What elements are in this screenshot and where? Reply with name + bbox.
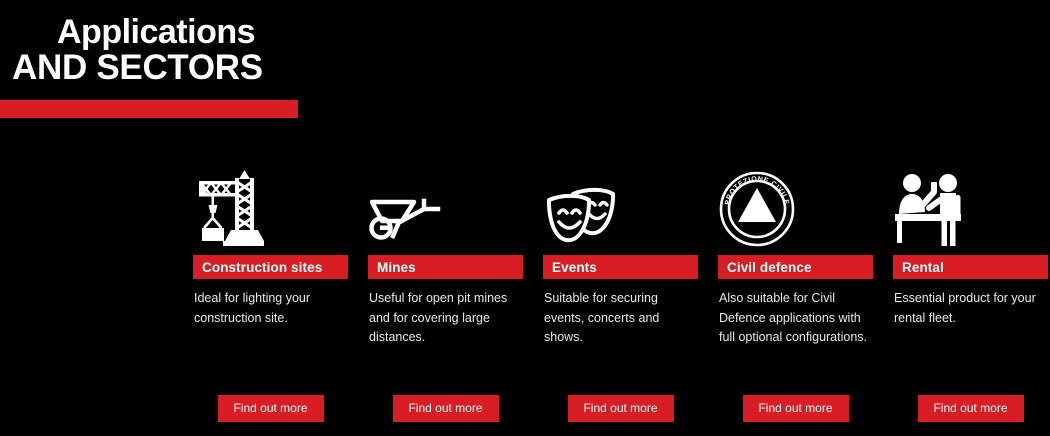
card-label-civil-defence: Civil defence	[718, 255, 873, 279]
page-title-line-2: AND SECTORS	[12, 47, 263, 89]
card-description: Also suitable for Civil Defence applicat…	[719, 289, 871, 348]
page-header: Applications AND SECTORS	[0, 0, 1050, 130]
card-label-text: Civil defence	[718, 260, 812, 275]
card-description: Useful for open pit mines and for coveri…	[369, 289, 521, 348]
card-construction-sites[interactable]: Construction sites Ideal for lighting yo…	[193, 168, 348, 436]
theater-masks-icon	[543, 168, 628, 248]
card-label-text: Events	[543, 260, 597, 275]
card-rental[interactable]: Rental Essential product for your rental…	[893, 168, 1048, 436]
card-label-text: Rental	[893, 260, 944, 275]
find-out-more-button-mines[interactable]: Find out more	[393, 395, 499, 422]
card-label-text: Mines	[368, 260, 416, 275]
card-label-text: Construction sites	[193, 260, 322, 275]
card-label-mines: Mines	[368, 255, 523, 279]
applications-card-row: Construction sites Ideal for lighting yo…	[193, 168, 1050, 436]
card-label-rental: Rental	[893, 255, 1048, 279]
card-description: Essential product for your rental fleet.	[894, 289, 1046, 328]
card-label-construction-sites: Construction sites	[193, 255, 348, 279]
wheelbarrow-icon	[368, 168, 453, 248]
card-civil-defence[interactable]: PROTEZIONE CIVILE Civil defence Also sui…	[718, 168, 873, 436]
find-out-more-button-events[interactable]: Find out more	[568, 395, 674, 422]
card-mines[interactable]: Mines Useful for open pit mines and for …	[368, 168, 523, 436]
find-out-more-button-construction-sites[interactable]: Find out more	[218, 395, 324, 422]
page-title-line-1: Applications	[57, 12, 255, 52]
card-description: Ideal for lighting your construction sit…	[194, 289, 346, 328]
tower-crane-icon	[193, 168, 278, 248]
rental-counter-icon	[893, 168, 978, 248]
card-events[interactable]: Events Suitable for securing events, con…	[543, 168, 698, 436]
card-label-events: Events	[543, 255, 698, 279]
find-out-more-button-rental[interactable]: Find out more	[918, 395, 1024, 422]
title-underline-bar	[0, 100, 298, 118]
protezione-civile-emblem-icon: PROTEZIONE CIVILE	[718, 168, 803, 248]
card-description: Suitable for securing events, concerts a…	[544, 289, 696, 348]
find-out-more-button-civil-defence[interactable]: Find out more	[743, 395, 849, 422]
